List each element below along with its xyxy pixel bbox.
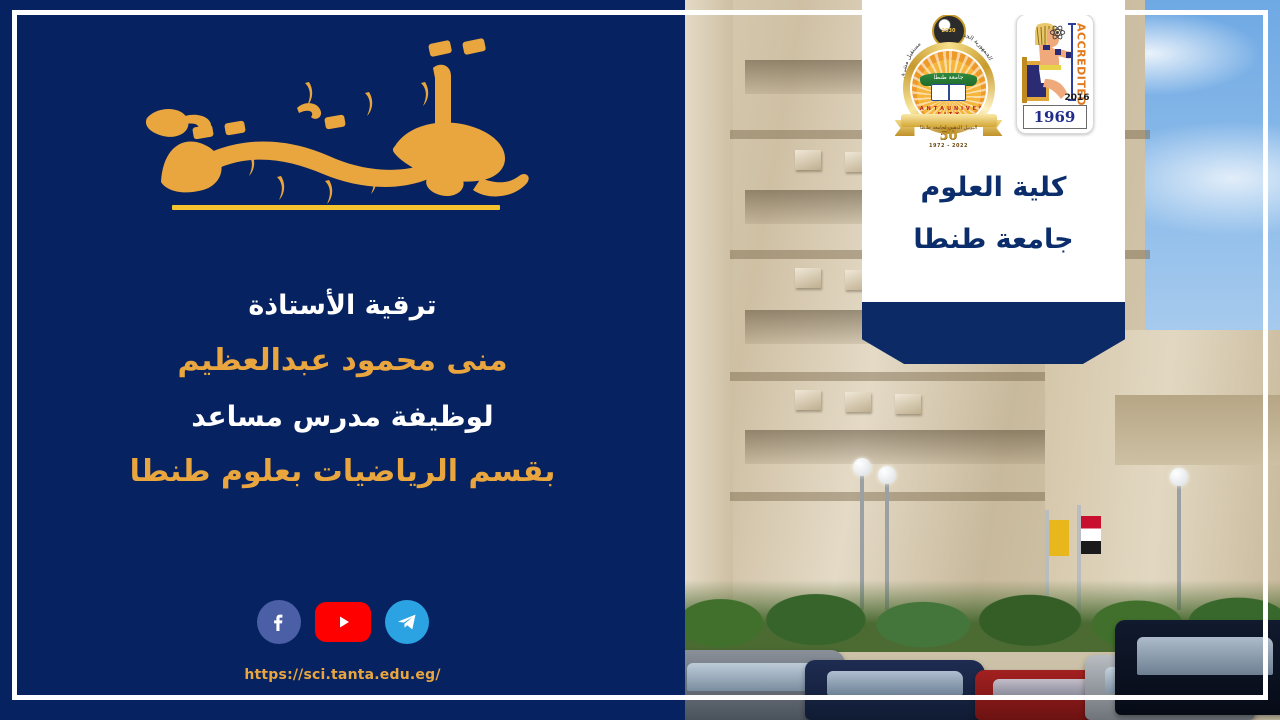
congratulation-poster: ترقية الأستاذة منى محمود عبدالعظيم لوظيف…: [0, 0, 1280, 720]
parked-car: [805, 660, 985, 720]
congratulation-calligraphy: [0, 34, 685, 209]
accreditation-rule: [1071, 23, 1073, 101]
announcement-text-block: ترقية الأستاذة منى محمود عبدالعظيم لوظيف…: [0, 292, 685, 488]
logo-row: 2030 مستقبل مشرق الجمهورية الجديدة جامعة…: [862, 0, 1125, 160]
lamp-globe-icon: [853, 458, 871, 476]
accreditation-badge-icon: ACCREDITED 2016 1969: [1016, 14, 1094, 134]
youtube-icon[interactable]: [315, 602, 371, 642]
atom-icon: [1049, 24, 1066, 41]
faculty-name-line1: كلية العلوم: [862, 174, 1125, 202]
parked-car: [1115, 620, 1280, 715]
telegram-icon[interactable]: [385, 600, 429, 644]
promotion-department: بقسم الرياضيات بعلوم طنطا: [0, 456, 685, 488]
lamp-globe-icon: [878, 466, 896, 484]
building-wing-lower: [1115, 395, 1280, 465]
anniversary-years: 1972 - 2022: [895, 143, 1003, 149]
faculty-name-line2: جامعة طنطا: [862, 226, 1125, 254]
facebook-icon[interactable]: [257, 600, 301, 644]
anniversary-number: 50: [895, 128, 1003, 143]
anniversary-ribbon: اليوبيل الذهبي لجامعة طنطا 50 1972 - 202…: [895, 110, 1003, 156]
flag-egypt: [1081, 516, 1101, 554]
website-url[interactable]: https://sci.tanta.edu.eg/: [0, 667, 685, 683]
accredited-year: 2016: [1064, 93, 1089, 103]
seal-green-band-label: جامعة طنطا: [920, 73, 976, 84]
logo-card-banner: [862, 302, 1125, 364]
promotion-position: لوظيفة مدرس مساعد: [0, 402, 685, 431]
promotion-line-1: ترقية الأستاذة: [0, 292, 685, 320]
announcement-panel: ترقية الأستاذة منى محمود عبدالعظيم لوظيف…: [0, 0, 685, 720]
founded-year: 1969: [1023, 105, 1087, 129]
ribbon-band: اليوبيل الذهبي لجامعة طنطا: [901, 114, 997, 127]
promoted-person-name: منى محمود عبدالعظيم: [0, 345, 685, 377]
faculty-logo-card: 2030 مستقبل مشرق الجمهورية الجديدة جامعة…: [862, 0, 1125, 302]
lamp-globe-icon: [1170, 468, 1188, 486]
tanta-university-seal-icon: 2030 مستقبل مشرق الجمهورية الجديدة جامعة…: [894, 14, 1004, 156]
flag-yellow: [1049, 520, 1069, 556]
open-book-icon: [931, 84, 967, 100]
gold-divider-rule: [172, 205, 500, 210]
social-links: [0, 600, 685, 644]
